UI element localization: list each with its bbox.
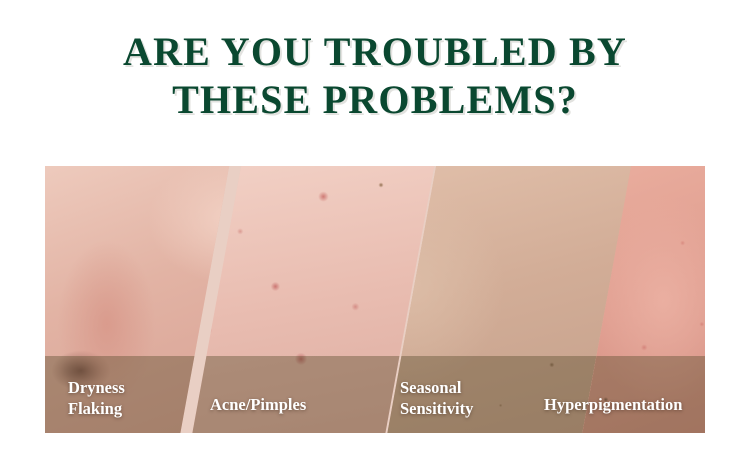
panel-label-seasonal-sensitivity: Seasonal Sensitivity [400, 377, 473, 419]
panel-label-line-2: Flaking [68, 398, 125, 419]
page-title-line-1: ARE YOU TROUBLED BY [0, 28, 750, 76]
panel-label-line-1: Dryness [68, 378, 125, 397]
panel-label-line-1: Acne/Pimples [210, 395, 306, 414]
problem-panel-strip [45, 166, 705, 433]
panel-label-line-2: Sensitivity [400, 398, 473, 419]
panel-label-line-1: Hyperpigmentation [544, 395, 682, 414]
page-title-line-2: THESE PROBLEMS? [0, 76, 750, 124]
panel-label-hyperpigmentation: Hyperpigmentation [544, 394, 682, 415]
page-title: ARE YOU TROUBLED BY THESE PROBLEMS? [0, 28, 750, 124]
panel-label-acne-pimples: Acne/Pimples [210, 394, 306, 415]
panel-label-dryness-flaking: Dryness Flaking [68, 377, 125, 419]
panel-label-line-1: Seasonal [400, 378, 461, 397]
